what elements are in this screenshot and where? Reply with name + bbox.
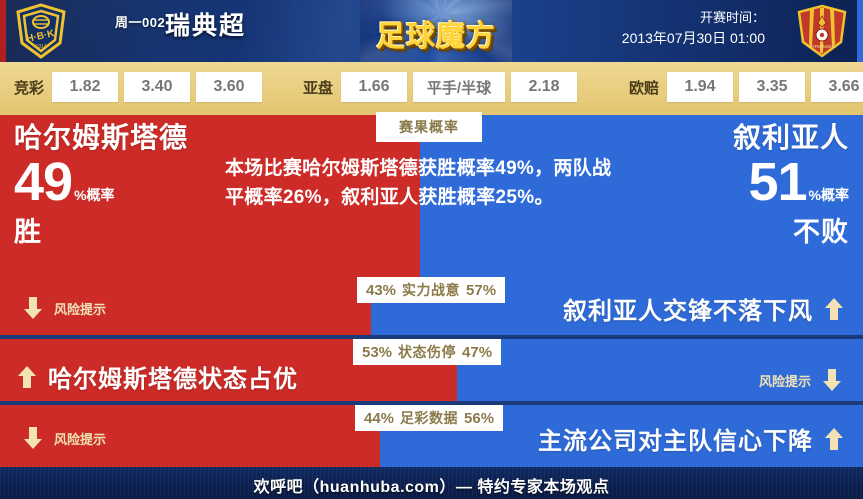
result-probability-section: 赛果概率 哈尔姆斯塔德 49 %概率 胜 叙利亚人 51 %概率 不败 本场比赛… — [0, 112, 863, 277]
probability-description: 本场比赛哈尔姆斯塔德获胜概率49%，两队战平概率26%，叙利亚人获胜概率25%。 — [225, 154, 620, 213]
home-percent-value: 49 — [14, 155, 72, 209]
away-comparison-note: 叙利亚人交锋不落下风 — [563, 291, 845, 326]
home-comparison-text: 哈尔姆斯塔德状态占优 — [48, 359, 298, 394]
kickoff-label: 开赛时间： — [622, 8, 765, 28]
home-team-name: 哈尔姆斯塔德 — [14, 122, 188, 153]
away-verdict: 不败 — [733, 210, 849, 249]
odds-cell-away[interactable]: 3.66 — [811, 72, 863, 102]
home-comparison-text: 风险提示 — [54, 429, 106, 448]
odds-cell-away[interactable]: 2.18 — [511, 72, 577, 102]
home-panel-top-rule — [0, 112, 420, 115]
odds-group-european: 欧赔 1.94 3.35 3.66 — [629, 72, 863, 102]
away-comparison-note: 风险提示 — [759, 367, 843, 393]
odds-group-title: 亚盘 — [303, 77, 333, 98]
odds-group-asian-handicap: 亚盘 1.66 平手/半球 2.18 — [303, 72, 583, 102]
arrow-down-icon — [821, 367, 843, 393]
home-verdict: 胜 — [14, 210, 188, 249]
odds-group-jingcai: 竞彩 1.82 3.40 3.60 — [14, 72, 268, 102]
home-comparison-text: 风险提示 — [54, 299, 106, 318]
home-comparison-note: 风险提示 — [22, 295, 106, 321]
away-percent-row: 51 %概率 — [733, 155, 849, 209]
away-comparison-text: 叙利亚人交锋不落下风 — [563, 291, 813, 326]
away-percent-value: 51 — [748, 155, 806, 209]
away-panel-top-rule — [420, 112, 863, 115]
comparison-metric-label: 44% 足彩数据 56% — [355, 405, 503, 431]
arrow-up-icon — [16, 364, 38, 390]
home-metric-percent: 43% — [366, 282, 396, 299]
metric-name: 实力战意 — [402, 280, 460, 300]
away-comparison-text: 风险提示 — [759, 371, 811, 390]
site-logo[interactable]: 足球魔方 — [360, 0, 512, 62]
home-metric-percent: 44% — [364, 410, 394, 427]
arrow-down-icon — [22, 295, 44, 321]
comparison-metric-label: 53% 状态伤停 47% — [353, 339, 501, 365]
header: H·B·K 1914 SYRIANSKA 周一002 瑞典超 足球魔方 开赛时 — [0, 0, 863, 62]
away-comparison-note: 主流公司对主队信心下降 — [538, 421, 845, 456]
footer-credit: 欢呼吧（huanhuba.com）— 特约专家本场观点 — [254, 473, 610, 497]
arrow-up-icon — [823, 296, 845, 322]
metric-name: 状态伤停 — [398, 342, 456, 362]
away-team-crest-icon: SYRIANSKA — [793, 3, 851, 59]
section-badge-result-probability: 赛果概率 — [376, 112, 482, 142]
home-team-crest-icon: H·B·K 1914 — [12, 3, 70, 59]
kickoff-info: 开赛时间： 2013年07月30日 01:00 — [622, 8, 765, 50]
away-metric-percent: 57% — [466, 282, 496, 299]
comparison-row-form: 53% 状态伤停 47% 哈尔姆斯塔德状态占优 风险提示 — [0, 339, 863, 401]
away-team-name: 叙利亚人 — [733, 122, 849, 153]
away-metric-percent: 47% — [462, 344, 492, 361]
home-comparison-note: 风险提示 — [22, 425, 106, 451]
footer: 欢呼吧（huanhuba.com）— 特约专家本场观点 — [0, 467, 863, 499]
odds-cell-home[interactable]: 1.94 — [667, 72, 733, 102]
match-number: 周一002 — [115, 12, 165, 31]
odds-cell-handicap[interactable]: 平手/半球 — [413, 72, 505, 102]
arrow-down-icon — [22, 425, 44, 451]
league-name: 瑞典超 — [165, 6, 246, 42]
odds-cell-home[interactable]: 1.82 — [52, 72, 118, 102]
arrow-up-icon — [823, 426, 845, 452]
odds-cell-draw[interactable]: 3.35 — [739, 72, 805, 102]
home-percent-suffix: %概率 — [72, 188, 114, 209]
logo-text: 足球魔方 — [360, 13, 512, 55]
comparison-row-strength: 43% 实力战意 57% 风险提示 叙利亚人交锋不落下风 — [0, 277, 863, 335]
odds-cell-draw[interactable]: 3.40 — [124, 72, 190, 102]
odds-group-title: 欧赔 — [629, 77, 659, 98]
odds-bar: 竞彩 1.82 3.40 3.60 亚盘 1.66 平手/半球 2.18 欧赔 … — [0, 62, 863, 112]
odds-group-title: 竞彩 — [14, 77, 44, 98]
comparison-rows: 43% 实力战意 57% 风险提示 叙利亚人交锋不落下风 5 — [0, 277, 863, 463]
odds-cell-home[interactable]: 1.66 — [341, 72, 407, 102]
away-team-summary: 叙利亚人 51 %概率 不败 — [733, 122, 849, 249]
match-preview-infographic: H·B·K 1914 SYRIANSKA 周一002 瑞典超 足球魔方 开赛时 — [0, 0, 863, 499]
home-percent-row: 49 %概率 — [14, 155, 188, 209]
home-comparison-note: 哈尔姆斯塔德状态占优 — [16, 359, 298, 394]
home-team-summary: 哈尔姆斯塔德 49 %概率 胜 — [14, 122, 188, 249]
comparison-row-betting-data: 44% 足彩数据 56% 风险提示 主流公司对主队信心下降 — [0, 405, 863, 463]
kickoff-time: 2013年07月30日 01:00 — [622, 28, 765, 50]
svg-text:SYRIANSKA: SYRIANSKA — [809, 44, 835, 49]
svg-text:1914: 1914 — [35, 44, 46, 50]
header-red-accent — [0, 0, 6, 62]
away-percent-suffix: %概率 — [807, 188, 849, 209]
metric-name: 足彩数据 — [400, 408, 458, 428]
away-metric-percent: 56% — [464, 410, 494, 427]
header-blue-accent — [857, 0, 863, 62]
home-metric-percent: 53% — [362, 344, 392, 361]
odds-cell-away[interactable]: 3.60 — [196, 72, 262, 102]
comparison-metric-label: 43% 实力战意 57% — [357, 277, 505, 303]
away-comparison-text: 主流公司对主队信心下降 — [538, 421, 813, 456]
